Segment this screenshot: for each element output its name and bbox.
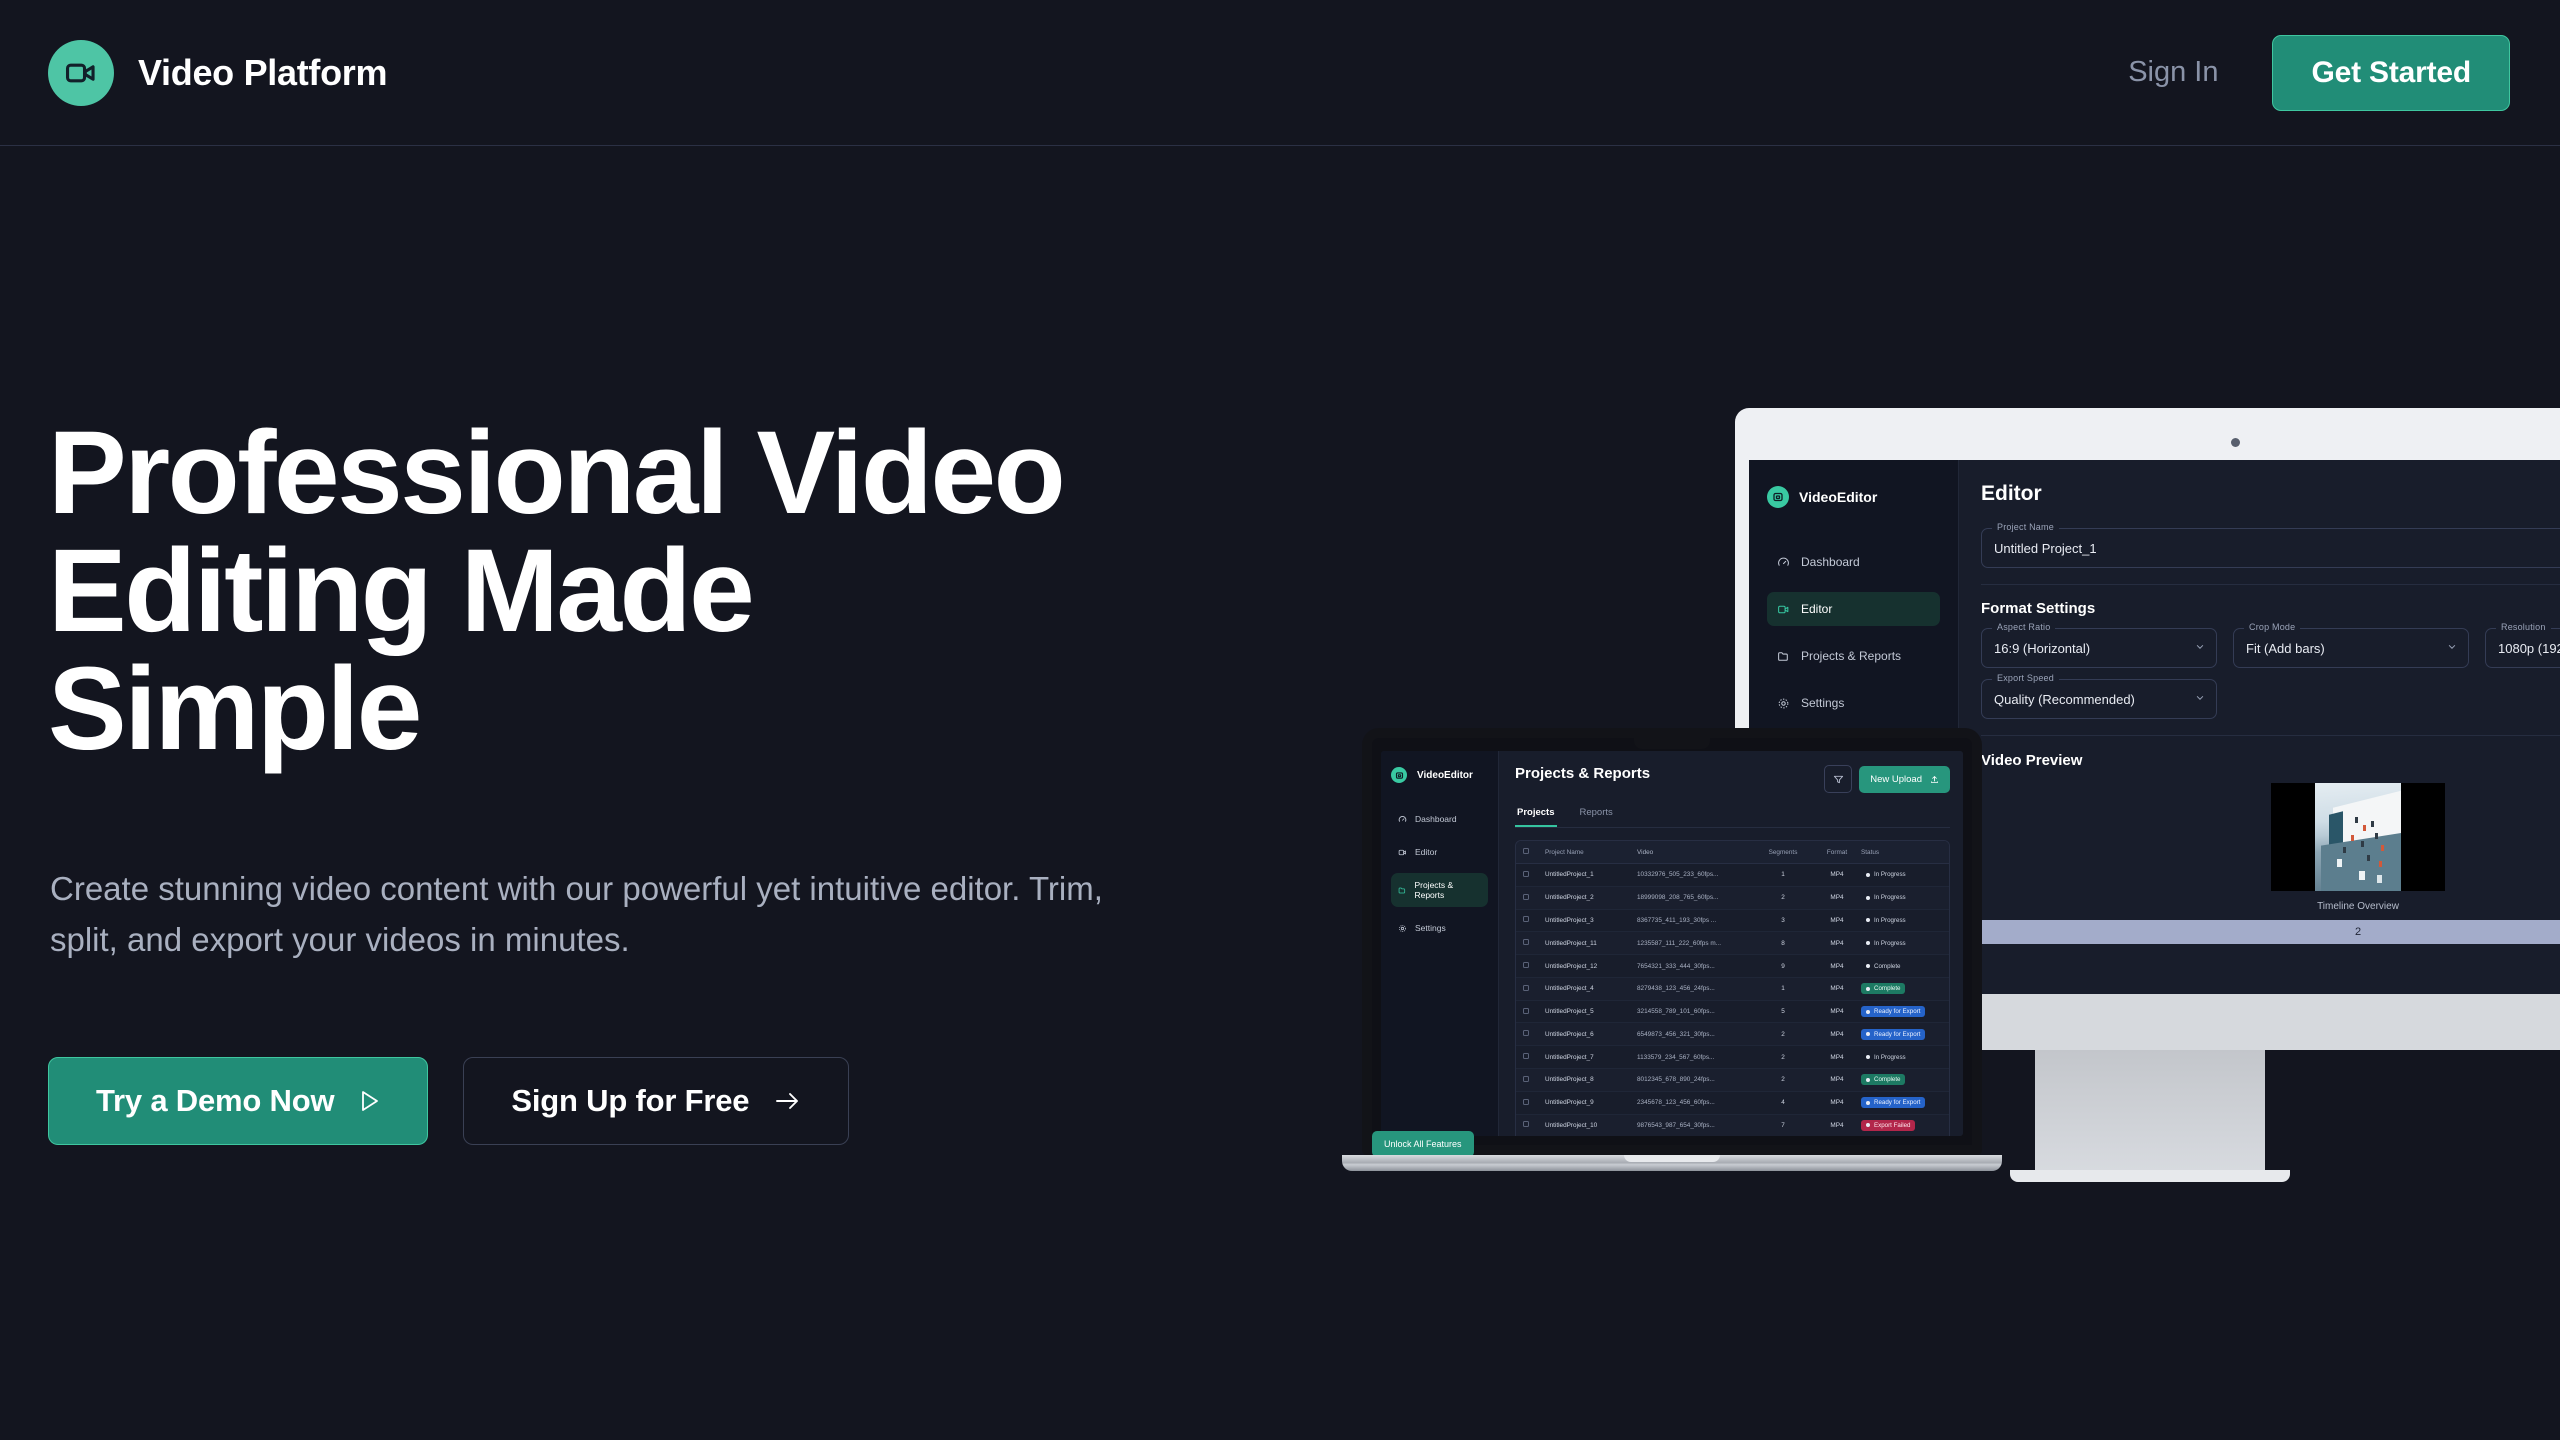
cell-project-name: UntitledProject_5	[1545, 1008, 1637, 1015]
cell-project-name: UntitledProject_9	[1545, 1099, 1637, 1106]
cell-project-name: UntitledProject_3	[1545, 917, 1637, 924]
sign-in-link[interactable]: Sign In	[2128, 56, 2218, 89]
cell-status: In Progress	[1861, 892, 1950, 903]
cell-video: 8367735_411_193_30fps ...	[1637, 917, 1753, 924]
sidebar-item-editor[interactable]: Editor	[1391, 840, 1488, 864]
video-preview-stage	[2271, 783, 2445, 891]
sidebar-label: Projects & Reports	[1414, 880, 1481, 900]
cell-status: Complete	[1861, 1074, 1950, 1085]
editor-main: Editor Save Export Project Name Untitled…	[1959, 460, 2560, 994]
select-all-checkbox[interactable]	[1523, 848, 1545, 856]
sidebar-nav: Dashboard Editor Projects & Reports	[1767, 545, 1940, 720]
divider	[1981, 584, 2560, 585]
cell-segments: 1	[1753, 985, 1813, 992]
col-video[interactable]: Video	[1637, 849, 1753, 856]
cell-format: MP4	[1813, 1076, 1861, 1083]
app-logo-text: VideoEditor	[1799, 489, 1877, 505]
table-row[interactable]: UntitledProject_66549873_456_321_30fps..…	[1516, 1023, 1949, 1046]
sidebar-label: Projects & Reports	[1801, 649, 1901, 663]
cell-status: In Progress	[1861, 938, 1950, 949]
format-fields-row-2: Export Speed Quality (Recommended)	[1981, 668, 2560, 719]
cell-status: Ready for Export	[1861, 1097, 1950, 1108]
cell-format: MP4	[1813, 1008, 1861, 1015]
cell-format: MP4	[1813, 963, 1861, 970]
cell-format: MP4	[1813, 871, 1861, 878]
col-format[interactable]: Format	[1813, 849, 1861, 856]
sidebar-label: Dashboard	[1801, 555, 1860, 569]
gauge-icon	[1398, 815, 1407, 824]
sidebar-item-projects-reports[interactable]: Projects & Reports	[1391, 873, 1488, 907]
cell-format: MP4	[1813, 1054, 1861, 1061]
sidebar-label: Settings	[1801, 696, 1844, 710]
cell-status: Complete	[1861, 983, 1950, 994]
sidebar-label: Settings	[1415, 923, 1446, 933]
cell-project-name: UntitledProject_10	[1545, 1122, 1637, 1129]
play-triangle-icon	[360, 1090, 380, 1112]
timeline-bar[interactable]: 2	[1981, 920, 2560, 944]
cell-project-name: UntitledProject_2	[1545, 894, 1637, 901]
table-row[interactable]: UntitledProject_71133579_234_567_60fps..…	[1516, 1046, 1949, 1069]
cell-video: 8279438_123_456_24fps...	[1637, 985, 1753, 992]
video-preview-title: Video Preview	[1981, 752, 2082, 769]
laptop-base	[1342, 1155, 2002, 1171]
col-project-name[interactable]: Project Name	[1545, 849, 1637, 856]
field-value: 1080p (1920x1080)	[2498, 641, 2560, 656]
timeline-overview-label: Timeline Overview	[1981, 901, 2560, 912]
sidebar-nav: Dashboard Editor Projects & Reports	[1391, 807, 1488, 940]
cell-status: Ready for Export	[1861, 1006, 1950, 1017]
format-fields-row-1: Aspect Ratio 16:9 (Horizontal) Crop Mode…	[1981, 617, 2560, 668]
row-checkbox[interactable]	[1523, 1030, 1545, 1038]
row-checkbox[interactable]	[1523, 1008, 1545, 1016]
tab-reports[interactable]: Reports	[1578, 807, 1615, 827]
cell-segments: 3	[1753, 917, 1813, 924]
sidebar-item-settings[interactable]: Settings	[1391, 916, 1488, 940]
projects-main: Projects & Reports New Upload	[1499, 751, 1963, 1136]
cell-status: Ready for Export	[1861, 1029, 1950, 1040]
row-checkbox[interactable]	[1523, 1053, 1545, 1061]
field-value: Fit (Add bars)	[2246, 641, 2325, 656]
gauge-icon	[1777, 556, 1790, 569]
export-speed-select[interactable]: Export Speed Quality (Recommended)	[1981, 679, 2217, 719]
app-logo-text: VideoEditor	[1417, 770, 1473, 781]
table-row[interactable]: UntitledProject_92345678_123_456_60fps..…	[1516, 1092, 1949, 1115]
projects-sidebar: VideoEditor Dashboard Editor	[1381, 751, 1499, 1136]
video-preview-header: Video Preview Video player size	[1981, 752, 2560, 769]
cell-segments: 2	[1753, 1031, 1813, 1038]
cell-format: MP4	[1813, 894, 1861, 901]
folder-icon	[1777, 650, 1790, 663]
laptop-notch	[1634, 734, 1710, 749]
cell-project-name: UntitledProject_12	[1545, 963, 1637, 970]
new-upload-button[interactable]: New Upload	[1859, 766, 1950, 793]
projects-page-title: Projects & Reports	[1515, 765, 1650, 782]
col-status[interactable]: Status	[1861, 849, 1950, 856]
sidebar-item-settings[interactable]: Settings	[1767, 686, 1940, 720]
row-checkbox[interactable]	[1523, 1076, 1545, 1084]
sign-up-label: Sign Up for Free	[511, 1083, 749, 1119]
cell-status: In Progress	[1861, 1052, 1950, 1063]
row-checkbox[interactable]	[1523, 916, 1545, 924]
sidebar-label: Editor	[1415, 847, 1437, 857]
unlock-all-features-button[interactable]: Unlock All Features	[1381, 1131, 1474, 1136]
project-name-value: Untitled Project_1	[1994, 541, 2097, 556]
sidebar-item-dashboard[interactable]: Dashboard	[1391, 807, 1488, 831]
cell-video: 7654321_333_444_30fps...	[1637, 963, 1753, 970]
upload-icon	[1930, 775, 1939, 784]
cell-project-name: UntitledProject_11	[1545, 940, 1637, 947]
cell-segments: 4	[1753, 1099, 1813, 1106]
table-row[interactable]: UntitledProject_109876543_987_654_30fps.…	[1516, 1115, 1949, 1136]
gear-icon	[1398, 924, 1407, 933]
cell-status: In Progress	[1861, 915, 1950, 926]
cell-video: 1133579_234_567_60fps...	[1637, 1054, 1753, 1061]
resolution-select[interactable]: Resolution 1080p (1920x1080)	[2485, 628, 2560, 668]
app-logo: VideoEditor	[1391, 767, 1488, 783]
video-thumbnail	[2315, 783, 2401, 891]
folder-icon	[1398, 886, 1406, 895]
laptop-mockup: VideoEditor Dashboard Editor	[1362, 728, 1982, 1171]
row-checkbox[interactable]	[1523, 894, 1545, 902]
cell-format: MP4	[1813, 985, 1861, 992]
app-logo: VideoEditor	[1767, 486, 1940, 508]
cell-status: In Progress	[1861, 869, 1950, 880]
sidebar-label: Dashboard	[1415, 814, 1457, 824]
gear-icon	[1777, 697, 1790, 710]
cell-project-name: UntitledProject_7	[1545, 1054, 1637, 1061]
brand-name: Video Platform	[138, 52, 387, 94]
cell-video: 8012345_678_890_24fps...	[1637, 1076, 1753, 1083]
chevron-down-icon	[2195, 642, 2205, 652]
field-label: Aspect Ratio	[1992, 622, 2055, 632]
sign-up-button[interactable]: Sign Up for Free	[463, 1057, 849, 1145]
table-row[interactable]: UntitledProject_38367735_411_193_30fps .…	[1516, 910, 1949, 933]
get-started-button[interactable]: Get Started	[2272, 35, 2510, 111]
hero-section: Professional Video Editing Made Simple C…	[0, 146, 1200, 1145]
field-value: Quality (Recommended)	[1994, 692, 2135, 707]
monitor-stand-neck	[2035, 1050, 2265, 1170]
monitor-stand-base	[2010, 1170, 2290, 1182]
project-name-field[interactable]: Project Name Untitled Project_1	[1981, 528, 2560, 568]
field-label: Resolution	[2496, 622, 2551, 632]
try-demo-label: Try a Demo Now	[96, 1083, 334, 1119]
laptop-screen: VideoEditor Dashboard Editor	[1381, 751, 1963, 1136]
cell-format: MP4	[1813, 940, 1861, 947]
laptop-base-notch	[1624, 1155, 1720, 1162]
hero-subtitle: Create stunning video content with our p…	[50, 863, 1130, 965]
projects-table: Project Name Video Segments Format Statu…	[1515, 840, 1950, 1136]
cell-video: 9876543_987_654_30fps...	[1637, 1122, 1753, 1129]
table-row[interactable]: UntitledProject_218999098_208_765_60fps.…	[1516, 887, 1949, 910]
cell-format: MP4	[1813, 1099, 1861, 1106]
cell-project-name: UntitledProject_4	[1545, 985, 1637, 992]
webcam-icon	[2231, 438, 2240, 447]
try-demo-button[interactable]: Try a Demo Now	[48, 1057, 428, 1145]
arrow-right-icon	[775, 1091, 801, 1111]
field-value: 16:9 (Horizontal)	[1994, 641, 2090, 656]
cell-video: 18999098_208_765_60fps...	[1637, 894, 1753, 901]
sidebar-label: Editor	[1801, 602, 1832, 616]
sidebar-item-projects-reports[interactable]: Projects & Reports	[1767, 639, 1940, 673]
cell-status: Export Failed	[1861, 1120, 1950, 1131]
cell-video: 3214558_789_101_60fps...	[1637, 1008, 1753, 1015]
sidebar-item-dashboard[interactable]: Dashboard	[1767, 545, 1940, 579]
cell-status: Complete	[1861, 961, 1950, 972]
field-label: Crop Mode	[2244, 622, 2300, 632]
header-actions: Sign In Get Started	[2128, 35, 2510, 111]
table-row[interactable]: UntitledProject_110332976_505_233_60fps.…	[1516, 864, 1949, 887]
cell-video: 1235587_111_222_60fps m...	[1637, 940, 1753, 947]
video-camera-icon	[1777, 603, 1790, 616]
video-camera-icon	[1398, 848, 1407, 857]
video-camera-icon	[48, 40, 114, 106]
cell-segments: 2	[1753, 1076, 1813, 1083]
site-header: Video Platform Sign In Get Started	[0, 0, 2560, 146]
laptop-lid: VideoEditor Dashboard Editor	[1362, 728, 1982, 1155]
page-title: Professional Video Editing Made Simple	[48, 414, 1128, 768]
table-row[interactable]: UntitledProject_111235587_111_222_60fps …	[1516, 932, 1949, 955]
table-row[interactable]: UntitledProject_48279438_123_456_24fps..…	[1516, 978, 1949, 1001]
funnel-icon	[1833, 774, 1844, 785]
table-header-row: Project Name Video Segments Format Statu…	[1516, 841, 1949, 864]
table-row[interactable]: UntitledProject_127654321_333_444_30fps.…	[1516, 955, 1949, 978]
hero-cta-group: Try a Demo Now Sign Up for Free	[48, 1057, 1200, 1145]
tab-projects[interactable]: Projects	[1515, 807, 1557, 827]
cell-segments: 9	[1753, 963, 1813, 970]
cell-format: MP4	[1813, 1031, 1861, 1038]
editor-page-title: Editor	[1981, 482, 2042, 506]
cell-segments: 2	[1753, 1054, 1813, 1061]
crop-mode-select[interactable]: Crop Mode Fit (Add bars)	[2233, 628, 2469, 668]
cell-video: 10332976_505_233_60fps...	[1637, 871, 1753, 878]
field-label: Export Speed	[1992, 673, 2059, 683]
cell-project-name: UntitledProject_1	[1545, 871, 1637, 878]
cell-project-name: UntitledProject_6	[1545, 1031, 1637, 1038]
cell-video: 6549873_456_321_30fps...	[1637, 1031, 1753, 1038]
row-checkbox[interactable]	[1523, 939, 1545, 947]
projects-header-actions: New Upload	[1824, 765, 1950, 793]
cell-segments: 2	[1753, 894, 1813, 901]
sidebar-item-editor[interactable]: Editor	[1767, 592, 1940, 626]
filter-button[interactable]	[1824, 765, 1852, 793]
cell-segments: 5	[1753, 1008, 1813, 1015]
cell-project-name: UntitledProject_8	[1545, 1076, 1637, 1083]
chevron-down-icon	[2195, 693, 2205, 703]
project-name-label: Project Name	[1992, 522, 2059, 532]
table-body: UntitledProject_110332976_505_233_60fps.…	[1516, 864, 1949, 1136]
video-camera-icon	[1767, 486, 1789, 508]
divider	[1981, 735, 2560, 736]
cell-format: MP4	[1813, 917, 1861, 924]
row-checkbox[interactable]	[1523, 985, 1545, 993]
table-row[interactable]: UntitledProject_53214558_789_101_60fps..…	[1516, 1001, 1949, 1024]
new-upload-label: New Upload	[1870, 774, 1922, 785]
chevron-down-icon	[2447, 642, 2457, 652]
table-row[interactable]: UntitledProject_88012345_678_890_24fps..…	[1516, 1069, 1949, 1092]
row-checkbox[interactable]	[1523, 1121, 1545, 1129]
col-segments[interactable]: Segments	[1753, 849, 1813, 856]
video-camera-icon	[1391, 767, 1407, 783]
cell-video: 2345678_123_456_60fps...	[1637, 1099, 1753, 1106]
row-checkbox[interactable]	[1523, 871, 1545, 879]
aspect-ratio-select[interactable]: Aspect Ratio 16:9 (Horizontal)	[1981, 628, 2217, 668]
row-checkbox[interactable]	[1523, 962, 1545, 970]
cell-segments: 1	[1753, 871, 1813, 878]
projects-tabs: Projects Reports	[1515, 807, 1950, 828]
editor-header: Editor Save Export	[1981, 482, 2560, 517]
brand-logo[interactable]: Video Platform	[48, 40, 387, 106]
cell-format: MP4	[1813, 1122, 1861, 1129]
row-checkbox[interactable]	[1523, 1099, 1545, 1107]
format-settings-title: Format Settings	[1981, 600, 2560, 617]
projects-header: Projects & Reports New Upload	[1515, 765, 1950, 793]
cell-segments: 8	[1753, 940, 1813, 947]
cell-segments: 7	[1753, 1122, 1813, 1129]
